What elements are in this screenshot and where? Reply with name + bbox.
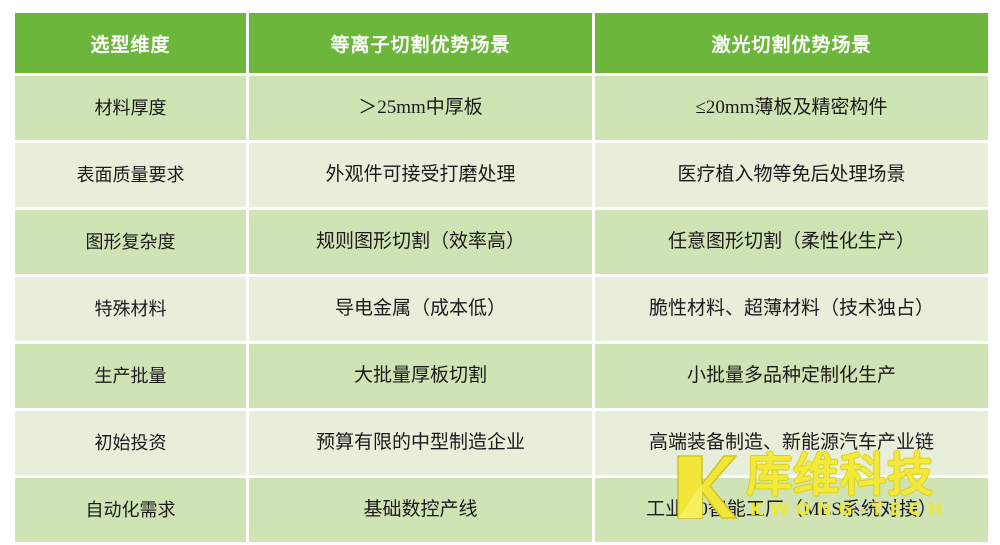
table-row: 自动化需求 基础数控产线 工业4.0智能工厂（MES系统对接） [15,478,988,542]
cell-plasma: 预算有限的中型制造企业 [249,411,592,475]
cell-laser: 工业4.0智能工厂（MES系统对接） [595,478,988,542]
table-header: 选型维度 等离子切割优势场景 激光切割优势场景 [15,13,988,73]
table-row: 生产批量 大批量厚板切割 小批量多品种定制化生产 [15,344,988,408]
cell-laser: 任意图形切割（柔性化生产） [595,210,988,274]
cell-plasma: 大批量厚板切割 [249,344,592,408]
cell-plasma: 规则图形切割（效率高） [249,210,592,274]
cell-laser: ≤20mm薄板及精密构件 [595,76,988,140]
cell-laser: 医疗植入物等免后处理场景 [595,143,988,207]
cell-laser: 高端装备制造、新能源汽车产业链 [595,411,988,475]
cell-dimension: 表面质量要求 [15,143,246,207]
column-header-laser: 激光切割优势场景 [595,13,988,73]
cell-dimension: 特殊材料 [15,277,246,341]
comparison-table: 选型维度 等离子切割优势场景 激光切割优势场景 材料厚度 ＞25mm中厚板 ≤2… [12,10,991,545]
cell-plasma: ＞25mm中厚板 [249,76,592,140]
cell-plasma: 基础数控产线 [249,478,592,542]
cell-plasma: 外观件可接受打磨处理 [249,143,592,207]
table-row: 材料厚度 ＞25mm中厚板 ≤20mm薄板及精密构件 [15,76,988,140]
cell-plasma: 导电金属（成本低） [249,277,592,341]
cell-dimension: 生产批量 [15,344,246,408]
cell-dimension: 图形复杂度 [15,210,246,274]
table-row: 图形复杂度 规则图形切割（效率高） 任意图形切割（柔性化生产） [15,210,988,274]
comparison-table-container: 选型维度 等离子切割优势场景 激光切割优势场景 材料厚度 ＞25mm中厚板 ≤2… [12,10,988,531]
table-row: 表面质量要求 外观件可接受打磨处理 医疗植入物等免后处理场景 [15,143,988,207]
cell-dimension: 自动化需求 [15,478,246,542]
table-header-row: 选型维度 等离子切割优势场景 激光切割优势场景 [15,13,988,73]
cell-laser: 脆性材料、超薄材料（技术独占） [595,277,988,341]
cell-dimension: 初始投资 [15,411,246,475]
table-row: 初始投资 预算有限的中型制造企业 高端装备制造、新能源汽车产业链 [15,411,988,475]
cell-dimension: 材料厚度 [15,76,246,140]
column-header-plasma: 等离子切割优势场景 [249,13,592,73]
table-body: 材料厚度 ＞25mm中厚板 ≤20mm薄板及精密构件 表面质量要求 外观件可接受… [15,76,988,542]
cell-laser: 小批量多品种定制化生产 [595,344,988,408]
table-row: 特殊材料 导电金属（成本低） 脆性材料、超薄材料（技术独占） [15,277,988,341]
column-header-dimension: 选型维度 [15,13,246,73]
